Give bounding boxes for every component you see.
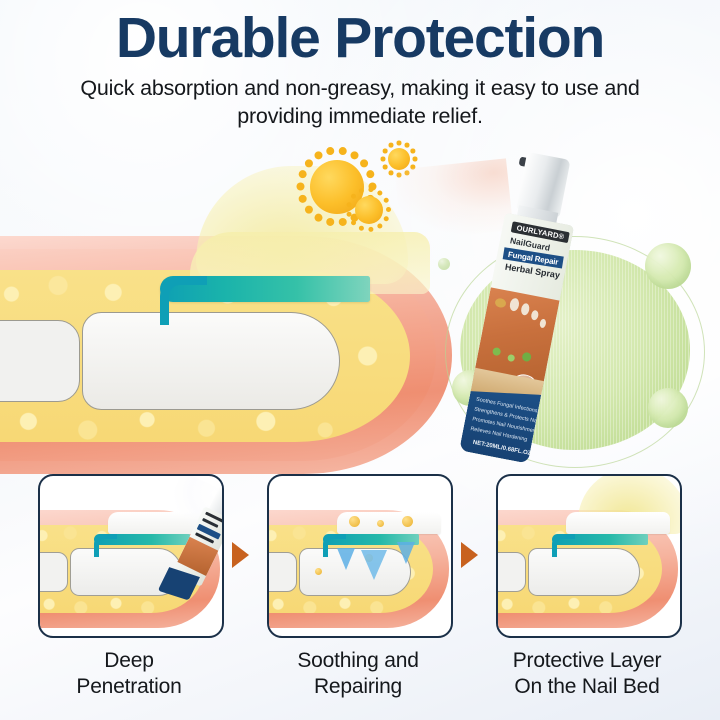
fungal-spike: [360, 159, 368, 167]
fungal-spike: [366, 170, 374, 178]
herb-dot-1: [492, 347, 501, 356]
toenail-4: [530, 310, 539, 321]
fungal-spike: [397, 141, 402, 146]
fungal-spike: [326, 147, 334, 155]
bone-segment-distal: [82, 312, 340, 410]
step-captions: Deep Penetration Soothing and Repairing …: [0, 648, 720, 718]
step-panel-protective-layer[interactable]: [496, 474, 682, 638]
step2-droplet-5: [315, 568, 322, 575]
step2-penetration-arrow-1: [337, 548, 355, 570]
step-caption-1-line-2: Penetration: [29, 674, 229, 700]
step1-nail-hook: [94, 534, 117, 557]
steps-row: [0, 474, 720, 654]
fungal-spike: [413, 157, 418, 162]
fungal-spike: [384, 198, 389, 203]
fungal-spike: [351, 151, 359, 159]
green-bubble-1: [645, 243, 691, 289]
header: Durable Protection Quick absorption and …: [0, 0, 720, 130]
step-caption-3-line-2: On the Nail Bed: [487, 674, 687, 700]
toenail-2: [509, 297, 520, 311]
fungal-spike: [377, 191, 382, 196]
step3-nail-hook: [552, 534, 575, 557]
fungal-spike: [389, 143, 394, 148]
step2-penetration-arrow-3: [397, 542, 415, 564]
fungal-spike: [405, 143, 410, 148]
fungal-core: [388, 148, 410, 170]
fungal-particle-3: [355, 196, 383, 224]
step-caption-2: Soothing and Repairing: [258, 648, 458, 699]
step2-anatomy: [267, 510, 453, 628]
step-caption-2-line-1: Soothing and: [258, 648, 458, 674]
herb-dot-2: [507, 354, 515, 362]
fungal-core: [355, 196, 383, 224]
fungal-spike: [351, 194, 356, 199]
step-arrow-2-icon: [461, 542, 478, 568]
step-caption-1-line-1: Deep: [29, 648, 229, 674]
fungal-spike: [381, 157, 386, 162]
step-panel-soothing-repairing[interactable]: [267, 474, 453, 638]
fungal-spike: [315, 151, 323, 159]
toenail-3: [520, 303, 530, 316]
step1-bone-a: [38, 552, 68, 592]
toenail-5: [539, 318, 547, 328]
step3-bone-a: [496, 552, 526, 592]
herb-dot-3: [521, 352, 532, 363]
fungal-spike: [383, 149, 388, 154]
step2-droplet-1: [349, 516, 360, 527]
green-bubble-4: [438, 258, 450, 270]
step3-bone-b: [528, 548, 640, 596]
page-subtitle: Quick absorption and non-greasy, making …: [70, 75, 650, 130]
fungal-spike: [305, 206, 313, 214]
fungal-spike: [410, 149, 415, 154]
step2-droplet-3: [402, 516, 413, 527]
step2-droplet-2: [377, 520, 384, 527]
fungal-spike: [339, 147, 347, 155]
fungal-spike: [305, 159, 313, 167]
product-infographic: Durable Protection Quick absorption and …: [0, 0, 720, 720]
green-bubble-2: [648, 388, 688, 428]
nail-cuticle-hook: [160, 276, 207, 325]
page-title: Durable Protection: [0, 0, 720, 68]
fungal-spike: [383, 165, 388, 170]
step2-penetration-arrow-2: [361, 550, 387, 580]
step-panel-deep-penetration[interactable]: [38, 474, 224, 638]
step-caption-3: Protective Layer On the Nail Bed: [487, 648, 687, 699]
toenail-1: [494, 297, 507, 308]
fungal-particle-2: [388, 148, 410, 170]
step3-nail-plate: [566, 512, 670, 534]
fungal-spike: [389, 170, 394, 175]
step3-anatomy: [496, 510, 682, 628]
bone-segment-proximal: [0, 320, 80, 402]
step-arrow-1-icon: [232, 542, 249, 568]
step-caption-1: Deep Penetration: [29, 648, 229, 699]
step-caption-3-line-1: Protective Layer: [487, 648, 687, 674]
step-caption-2-line-2: Repairing: [258, 674, 458, 700]
step2-bone-a: [267, 552, 297, 592]
